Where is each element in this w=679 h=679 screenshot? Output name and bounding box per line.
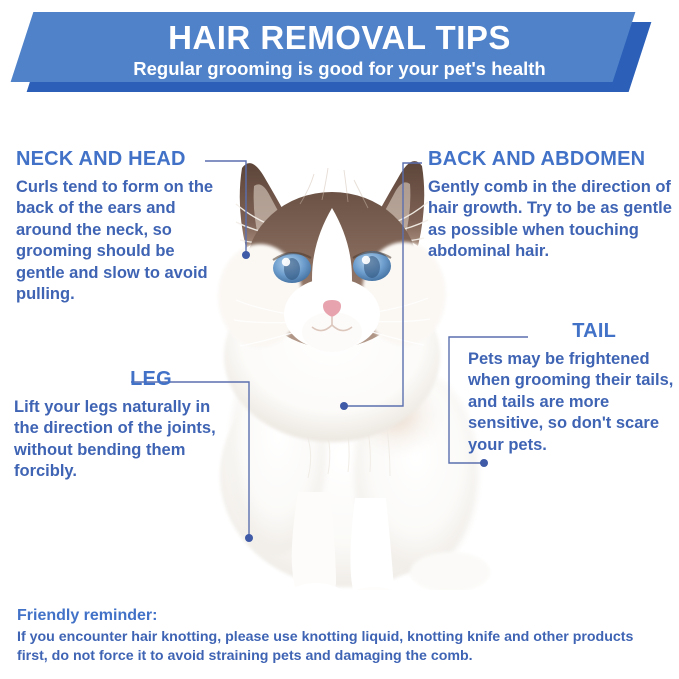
callout-tail-heading: TAIL [468,320,676,342]
poster-root: HAIR REMOVAL TIPS Regular grooming is go… [0,0,679,679]
callout-leg-body: Lift your legs naturally in the directio… [14,397,232,483]
callout-tail-body: Pets may be frightened when grooming the… [468,349,676,456]
callout-tail: TAIL Pets may be frightened when groomin… [468,320,676,456]
callout-neck-and-head: NECK AND HEAD Curls tend to form on the … [16,148,226,306]
callout-leg: LEG Lift your legs naturally in the dire… [14,368,232,483]
banner-text-group: HAIR REMOVAL TIPS Regular grooming is go… [0,12,679,88]
callout-back-heading: BACK AND ABDOMEN [428,148,676,170]
footer-body: If you encounter hair knotting, please u… [17,628,667,666]
callout-back-and-abdomen: BACK AND ABDOMEN Gently comb in the dire… [428,148,676,263]
header-banner: HAIR REMOVAL TIPS Regular grooming is go… [0,0,679,104]
footer-title: Friendly reminder: [17,606,667,626]
page-subtitle: Regular grooming is good for your pet's … [133,59,545,79]
callout-leg-heading: LEG [14,368,232,390]
callout-neck-body: Curls tend to form on the back of the ea… [16,177,226,306]
callout-neck-heading: NECK AND HEAD [16,148,226,170]
footer-note: Friendly reminder: If you encounter hair… [17,606,667,666]
page-title: HAIR REMOVAL TIPS [168,21,511,56]
callout-back-body: Gently comb in the direction of hair gro… [428,177,676,263]
